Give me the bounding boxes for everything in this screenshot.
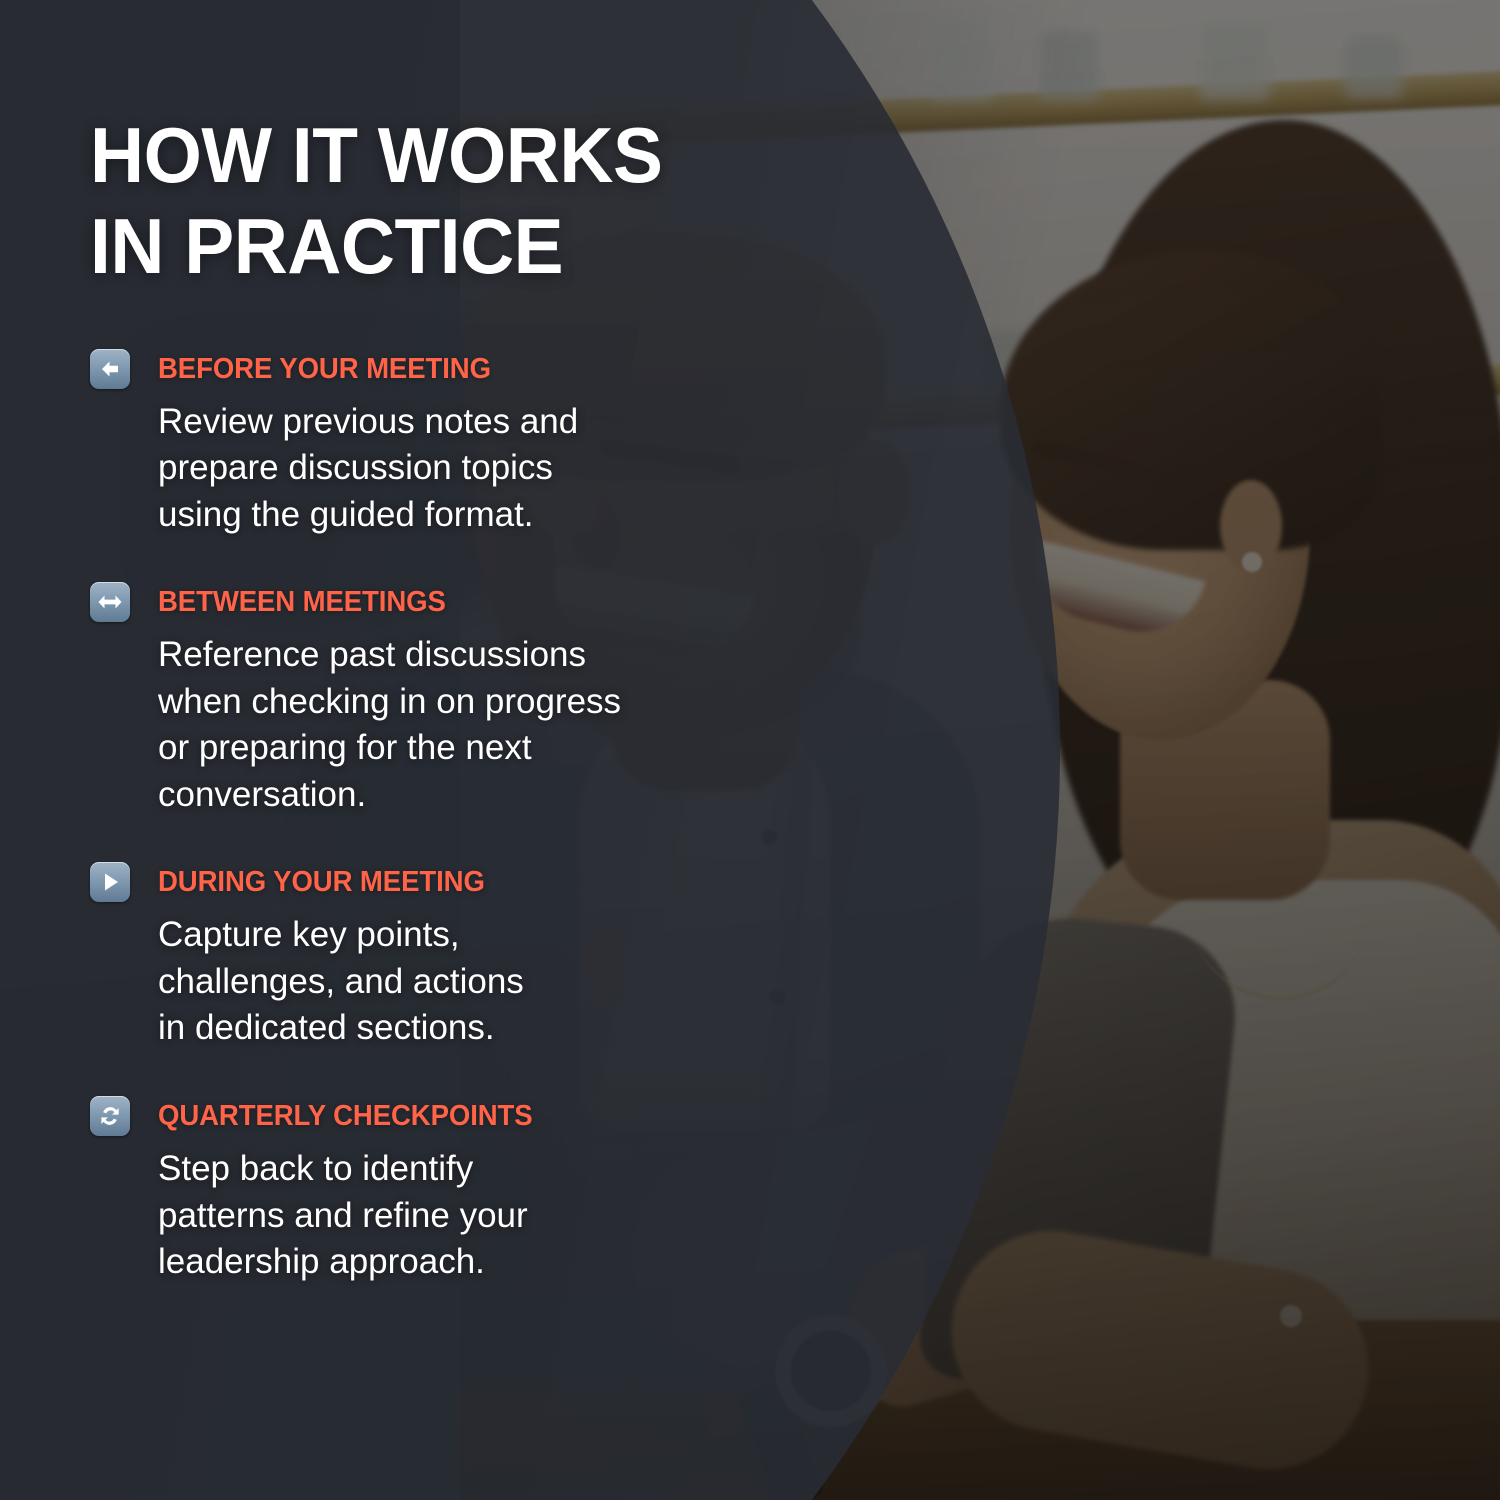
step-body-line: Capture key points, [158, 912, 718, 959]
step-body-line: or preparing for the next [158, 725, 718, 772]
content-area: HOW IT WORKS IN PRACTICE BEFORE YOUR MEE… [0, 0, 1500, 1500]
step-body-line: using the guided format. [158, 492, 718, 539]
step-body: Capture key points, challenges, and acti… [158, 912, 718, 1052]
step-body: Step back to identify patterns and refin… [158, 1146, 718, 1286]
step-heading: BEFORE YOUR MEETING [158, 349, 1433, 389]
step-body-line: conversation. [158, 772, 718, 819]
page-title-line-2: IN PRACTICE [90, 201, 781, 292]
step-body-line: Reference past discussions [158, 632, 718, 679]
step-body-line: in dedicated sections. [158, 1005, 718, 1052]
step-heading: DURING YOUR MEETING [158, 862, 1433, 902]
repeat-icon [90, 1096, 130, 1136]
play-icon [90, 862, 130, 902]
step-body: Reference past discussions when checking… [158, 632, 718, 818]
step-body-line: prepare discussion topics [158, 445, 718, 492]
page-title: HOW IT WORKS IN PRACTICE [90, 110, 781, 293]
step-item-during-your-meeting: DURING YOUR MEETING Capture key points, … [90, 862, 1500, 1052]
step-heading: BETWEEN MEETINGS [158, 582, 1433, 622]
step-heading: QUARTERLY CHECKPOINTS [158, 1096, 1433, 1136]
step-body-line: when checking in on progress [158, 679, 718, 726]
step-body: Review previous notes and prepare discus… [158, 399, 718, 539]
page-title-line-1: HOW IT WORKS [90, 110, 781, 201]
step-item-quarterly-checkpoints: QUARTERLY CHECKPOINTS Step back to ident… [90, 1096, 1500, 1286]
infographic-slide: HOW IT WORKS IN PRACTICE BEFORE YOUR MEE… [0, 0, 1500, 1500]
step-body-line: Step back to identify [158, 1146, 718, 1193]
step-body-line: challenges, and actions [158, 959, 718, 1006]
left-arrow-icon [90, 349, 130, 389]
step-body-line: Review previous notes and [158, 399, 718, 446]
step-item-between-meetings: BETWEEN MEETINGS Reference past discussi… [90, 582, 1500, 818]
left-right-arrow-icon [90, 582, 130, 622]
steps-list: BEFORE YOUR MEETING Review previous note… [90, 349, 1500, 1286]
step-item-before-your-meeting: BEFORE YOUR MEETING Review previous note… [90, 349, 1500, 539]
step-body-line: leadership approach. [158, 1239, 718, 1286]
step-body-line: patterns and refine your [158, 1193, 718, 1240]
